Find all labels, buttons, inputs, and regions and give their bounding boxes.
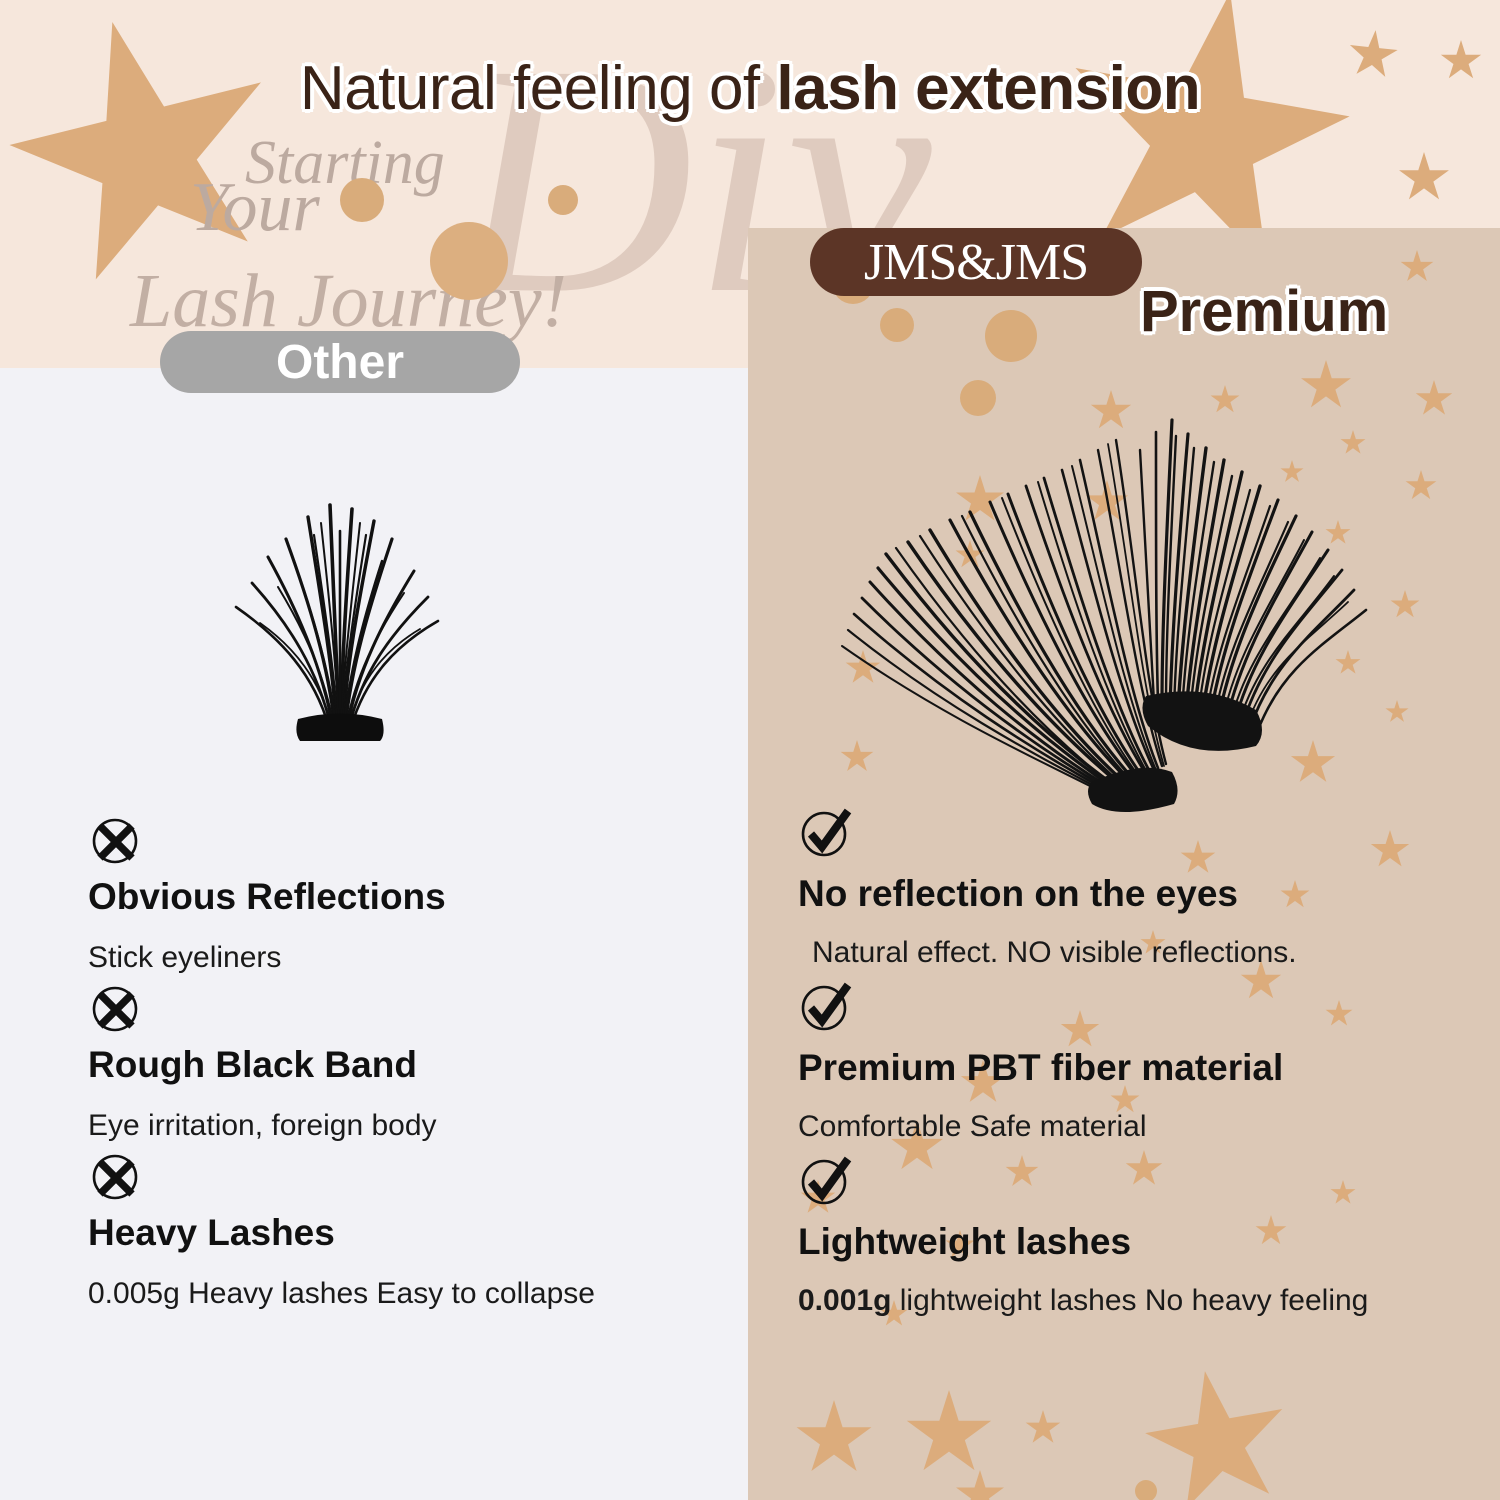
- right-panel-circle-3: [985, 310, 1037, 362]
- badge-premium: Premium: [1140, 278, 1388, 345]
- feature-subtitle: Natural effect. NO visible reflections.: [798, 933, 1458, 972]
- decor-script-your: Your: [190, 168, 320, 248]
- list-item: Rough Black Band Eye irritation, foreign…: [88, 980, 708, 1142]
- lash-cluster-premium-image: [800, 390, 1440, 820]
- list-item: No reflection on the eyes Natural effect…: [798, 805, 1458, 973]
- lash-cluster-spiky-image: [190, 465, 480, 745]
- badge-other-label: Other: [276, 335, 404, 390]
- header-circle-medium: [340, 178, 384, 222]
- feature-subtitle: Comfortable Safe material: [798, 1107, 1458, 1146]
- feature-title: No reflection on the eyes: [798, 871, 1458, 917]
- feature-title: Lightweight lashes: [798, 1219, 1458, 1265]
- feature-title: Rough Black Band: [88, 1042, 708, 1088]
- list-item: Lightweight lashes 0.001g lightweight la…: [798, 1153, 1458, 1321]
- header-circle-large: [430, 222, 508, 300]
- feature-title: Premium PBT fiber material: [798, 1045, 1458, 1091]
- list-item: Obvious Reflections Stick eyeliners: [88, 812, 708, 974]
- right-feature-list: No reflection on the eyes Natural effect…: [798, 805, 1458, 1327]
- list-item: Heavy Lashes 0.005g Heavy lashes Easy to…: [88, 1148, 708, 1310]
- header-circle-small: [548, 185, 578, 215]
- badge-brand: JMS&JMS: [810, 228, 1142, 296]
- check-mark-icon: [798, 805, 854, 861]
- badge-brand-label: JMS&JMS: [864, 233, 1088, 292]
- list-item: Premium PBT fiber material Comfortable S…: [798, 979, 1458, 1147]
- feature-title: Obvious Reflections: [88, 874, 708, 920]
- badge-other: Other: [160, 331, 520, 393]
- panel-circle-bottom: [1135, 1480, 1157, 1500]
- feature-subtitle-rest: lightweight lashes No heavy feeling: [891, 1284, 1368, 1317]
- page-title: Natural feeling of lash extension: [0, 58, 1500, 120]
- right-panel-circle-2: [880, 308, 914, 342]
- infographic-canvas: Diy Starting Your Lash Journey!: [0, 0, 1500, 1500]
- left-feature-list: Obvious Reflections Stick eyeliners Roug…: [88, 812, 708, 1316]
- feature-subtitle: Stick eyeliners: [88, 938, 708, 977]
- feature-subtitle: Eye irritation, foreign body: [88, 1106, 708, 1145]
- check-mark-icon: [798, 1153, 854, 1209]
- x-mark-icon: [88, 980, 144, 1036]
- feature-subtitle: 0.001g lightweight lashes No heavy feeli…: [798, 1281, 1458, 1320]
- feature-subtitle: 0.005g Heavy lashes Easy to collapse: [88, 1274, 708, 1313]
- check-mark-icon: [798, 979, 854, 1035]
- feature-title: Heavy Lashes: [88, 1210, 708, 1256]
- x-mark-icon: [88, 812, 144, 868]
- x-mark-icon: [88, 1148, 144, 1204]
- page-title-normal: Natural feeling of: [300, 54, 776, 123]
- feature-subtitle-weight: 0.001g: [798, 1284, 891, 1317]
- page-title-bold: lash extension: [776, 54, 1200, 123]
